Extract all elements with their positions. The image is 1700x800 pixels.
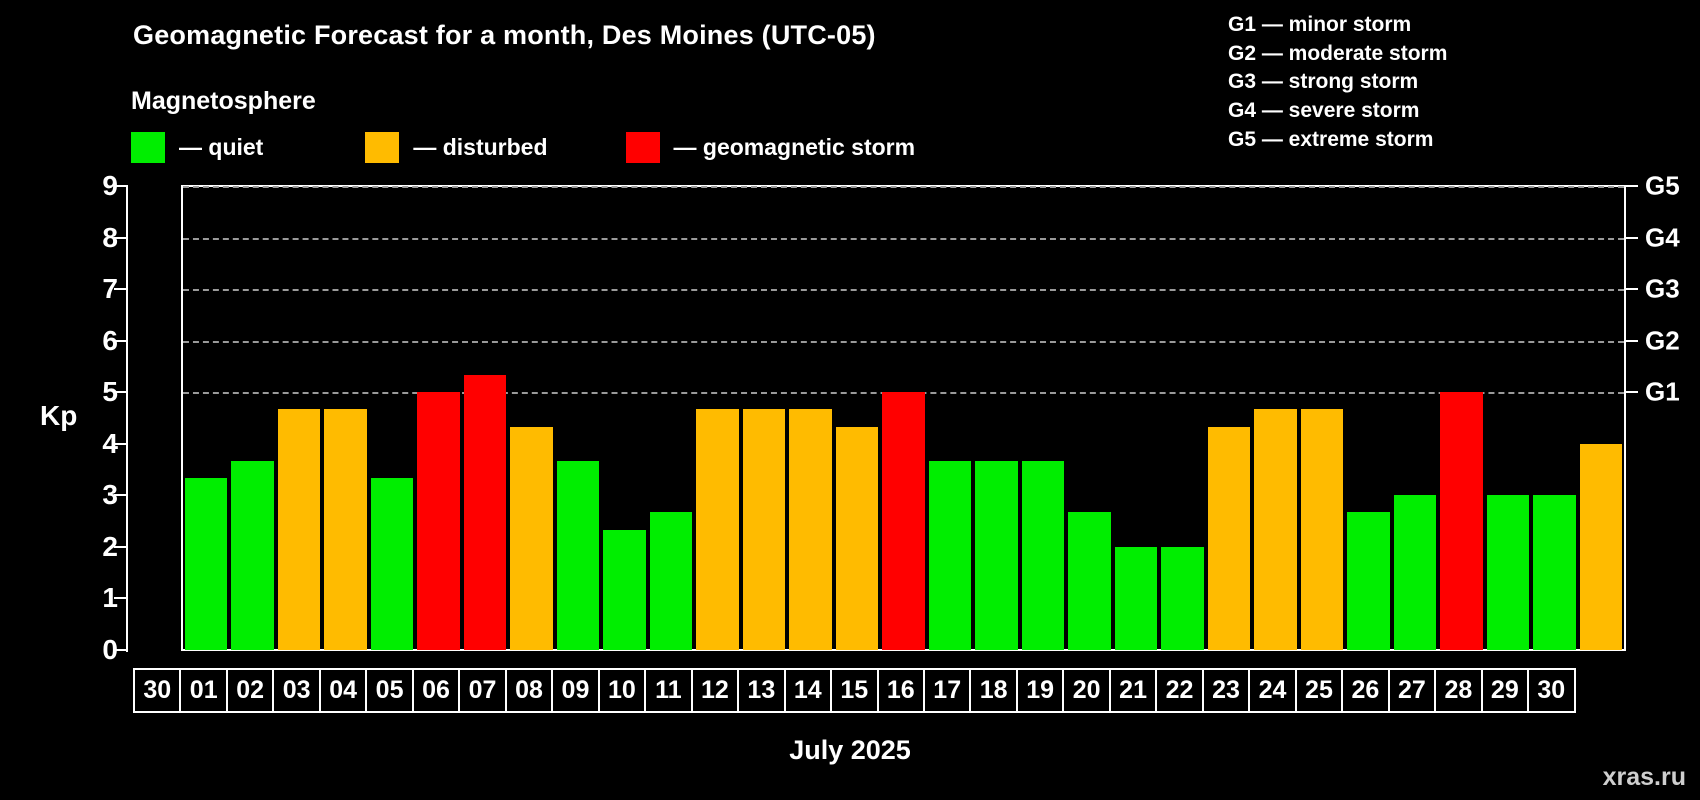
- g-axis-tick: [1626, 391, 1638, 393]
- legend-swatch-quiet: [131, 132, 165, 163]
- bar-04[interactable]: [371, 478, 413, 650]
- x-axis-label-25: 25: [1295, 668, 1343, 713]
- bar-07[interactable]: [510, 427, 552, 650]
- chart-canvas: Geomagnetic Forecast for a month, Des Mo…: [0, 0, 1700, 800]
- x-axis-label-26: 26: [1341, 668, 1389, 713]
- legend: — quiet — disturbed — geomagnetic storm: [131, 132, 915, 163]
- y-axis-title: Kp: [40, 400, 77, 432]
- x-axis-label-6: 06: [412, 668, 460, 713]
- bar-18[interactable]: [1022, 461, 1064, 650]
- x-axis-label-5: 05: [365, 668, 413, 713]
- x-axis-label-16: 16: [877, 668, 925, 713]
- y-axis-tick-label: 0: [78, 634, 118, 666]
- bar-15[interactable]: [882, 392, 924, 650]
- bar-27[interactable]: [1440, 392, 1482, 650]
- bar-26[interactable]: [1394, 495, 1436, 650]
- bar-30[interactable]: [185, 478, 227, 650]
- bar-series: [183, 186, 1624, 650]
- bar-08[interactable]: [557, 461, 599, 650]
- g-axis-tick: [1626, 288, 1638, 290]
- x-axis-label-19: 19: [1016, 668, 1064, 713]
- x-axis-label-10: 10: [598, 668, 646, 713]
- bar-06[interactable]: [464, 375, 506, 650]
- x-axis-label-9: 09: [551, 668, 599, 713]
- bar-21[interactable]: [1161, 547, 1203, 650]
- g-scale-row: G3 — strong storm: [1228, 68, 1447, 97]
- bar-13[interactable]: [789, 409, 831, 650]
- bar-05[interactable]: [417, 392, 459, 650]
- watermark: xras.ru: [1603, 763, 1686, 792]
- g-scale-row: G2 — moderate storm: [1228, 40, 1447, 69]
- g-axis-label-g4: G4: [1645, 222, 1680, 253]
- g-axis-tick: [1626, 340, 1638, 342]
- bar-20[interactable]: [1115, 547, 1157, 650]
- x-axis-label-3: 03: [272, 668, 320, 713]
- bar-11[interactable]: [696, 409, 738, 650]
- x-axis-label-8: 08: [505, 668, 553, 713]
- y-axis-line: [126, 185, 128, 652]
- g-axis-label-g3: G3: [1645, 274, 1680, 305]
- y-axis-tick-label: 4: [78, 428, 118, 460]
- page-title: Geomagnetic Forecast for a month, Des Mo…: [133, 20, 876, 51]
- g-axis-label-g2: G2: [1645, 325, 1680, 356]
- x-axis-label-27: 27: [1388, 668, 1436, 713]
- x-axis-title: July 2025: [0, 735, 1700, 766]
- bar-12[interactable]: [743, 409, 785, 650]
- x-axis-label-21: 21: [1109, 668, 1157, 713]
- legend-label-quiet: — quiet: [179, 134, 263, 161]
- x-axis-label-11: 11: [644, 668, 692, 713]
- g-scale-key: G1 — minor storm G2 — moderate storm G3 …: [1228, 11, 1447, 154]
- bar-03[interactable]: [324, 409, 366, 650]
- x-axis-label-24: 24: [1248, 668, 1296, 713]
- bar-17[interactable]: [975, 461, 1017, 650]
- bar-10[interactable]: [650, 512, 692, 650]
- x-axis-label-14: 14: [784, 668, 832, 713]
- g-axis-label-g1: G1: [1645, 377, 1680, 408]
- y-axis-tick-label: 6: [78, 325, 118, 357]
- g-axis-tick: [1626, 185, 1638, 187]
- y-axis-tick-label: 9: [78, 170, 118, 202]
- x-axis-label-18: 18: [969, 668, 1017, 713]
- x-axis-label-30: 30: [1527, 668, 1575, 713]
- bar-24[interactable]: [1301, 409, 1343, 650]
- x-axis-label-7: 07: [458, 668, 506, 713]
- g-axis-label-g5: G5: [1645, 171, 1680, 202]
- y-axis-tick-label: 5: [78, 376, 118, 408]
- x-axis-label-0: 30: [133, 668, 181, 713]
- x-axis-label-4: 04: [319, 668, 367, 713]
- magnetosphere-label: Magnetosphere: [131, 87, 316, 116]
- bar-09[interactable]: [603, 530, 645, 650]
- x-axis-label-28: 28: [1434, 668, 1482, 713]
- legend-label-disturbed: — disturbed: [413, 134, 547, 161]
- x-axis-label-15: 15: [830, 668, 878, 713]
- x-axis-labels: 3001020304050607080910111213141516171819…: [133, 668, 1574, 713]
- g-scale-row: G1 — minor storm: [1228, 11, 1447, 40]
- bar-02[interactable]: [278, 409, 320, 650]
- bar-29[interactable]: [1533, 495, 1575, 650]
- x-axis-label-13: 13: [737, 668, 785, 713]
- bar-30[interactable]: [1580, 444, 1622, 650]
- bar-22[interactable]: [1208, 427, 1250, 650]
- g-scale-row: G4 — severe storm: [1228, 97, 1447, 126]
- y-axis-tick-label: 8: [78, 222, 118, 254]
- bar-16[interactable]: [929, 461, 971, 650]
- bar-25[interactable]: [1347, 512, 1389, 650]
- legend-label-storm: — geomagnetic storm: [674, 134, 916, 161]
- x-axis-label-1: 01: [179, 668, 227, 713]
- legend-item-disturbed: — disturbed: [365, 132, 547, 163]
- legend-swatch-storm: [626, 132, 660, 163]
- legend-item-quiet: — quiet: [131, 132, 263, 163]
- y-axis-tick-label: 2: [78, 531, 118, 563]
- x-axis-label-12: 12: [691, 668, 739, 713]
- x-axis-label-20: 20: [1062, 668, 1110, 713]
- bar-19[interactable]: [1068, 512, 1110, 650]
- x-axis-label-2: 02: [226, 668, 274, 713]
- g-scale-row: G5 — extreme storm: [1228, 126, 1447, 155]
- x-axis-label-29: 29: [1481, 668, 1529, 713]
- y-axis-tick-label: 1: [78, 582, 118, 614]
- x-axis-label-23: 23: [1202, 668, 1250, 713]
- y-axis-tick-label: 7: [78, 273, 118, 305]
- legend-item-storm: — geomagnetic storm: [626, 132, 916, 163]
- y-axis-tick-label: 3: [78, 479, 118, 511]
- bar-14[interactable]: [836, 427, 878, 650]
- bar-28[interactable]: [1487, 495, 1529, 650]
- x-axis-label-22: 22: [1155, 668, 1203, 713]
- g-axis-tick: [1626, 237, 1638, 239]
- legend-swatch-disturbed: [365, 132, 399, 163]
- x-axis-label-17: 17: [923, 668, 971, 713]
- bar-23[interactable]: [1254, 409, 1296, 650]
- bar-01[interactable]: [231, 461, 273, 650]
